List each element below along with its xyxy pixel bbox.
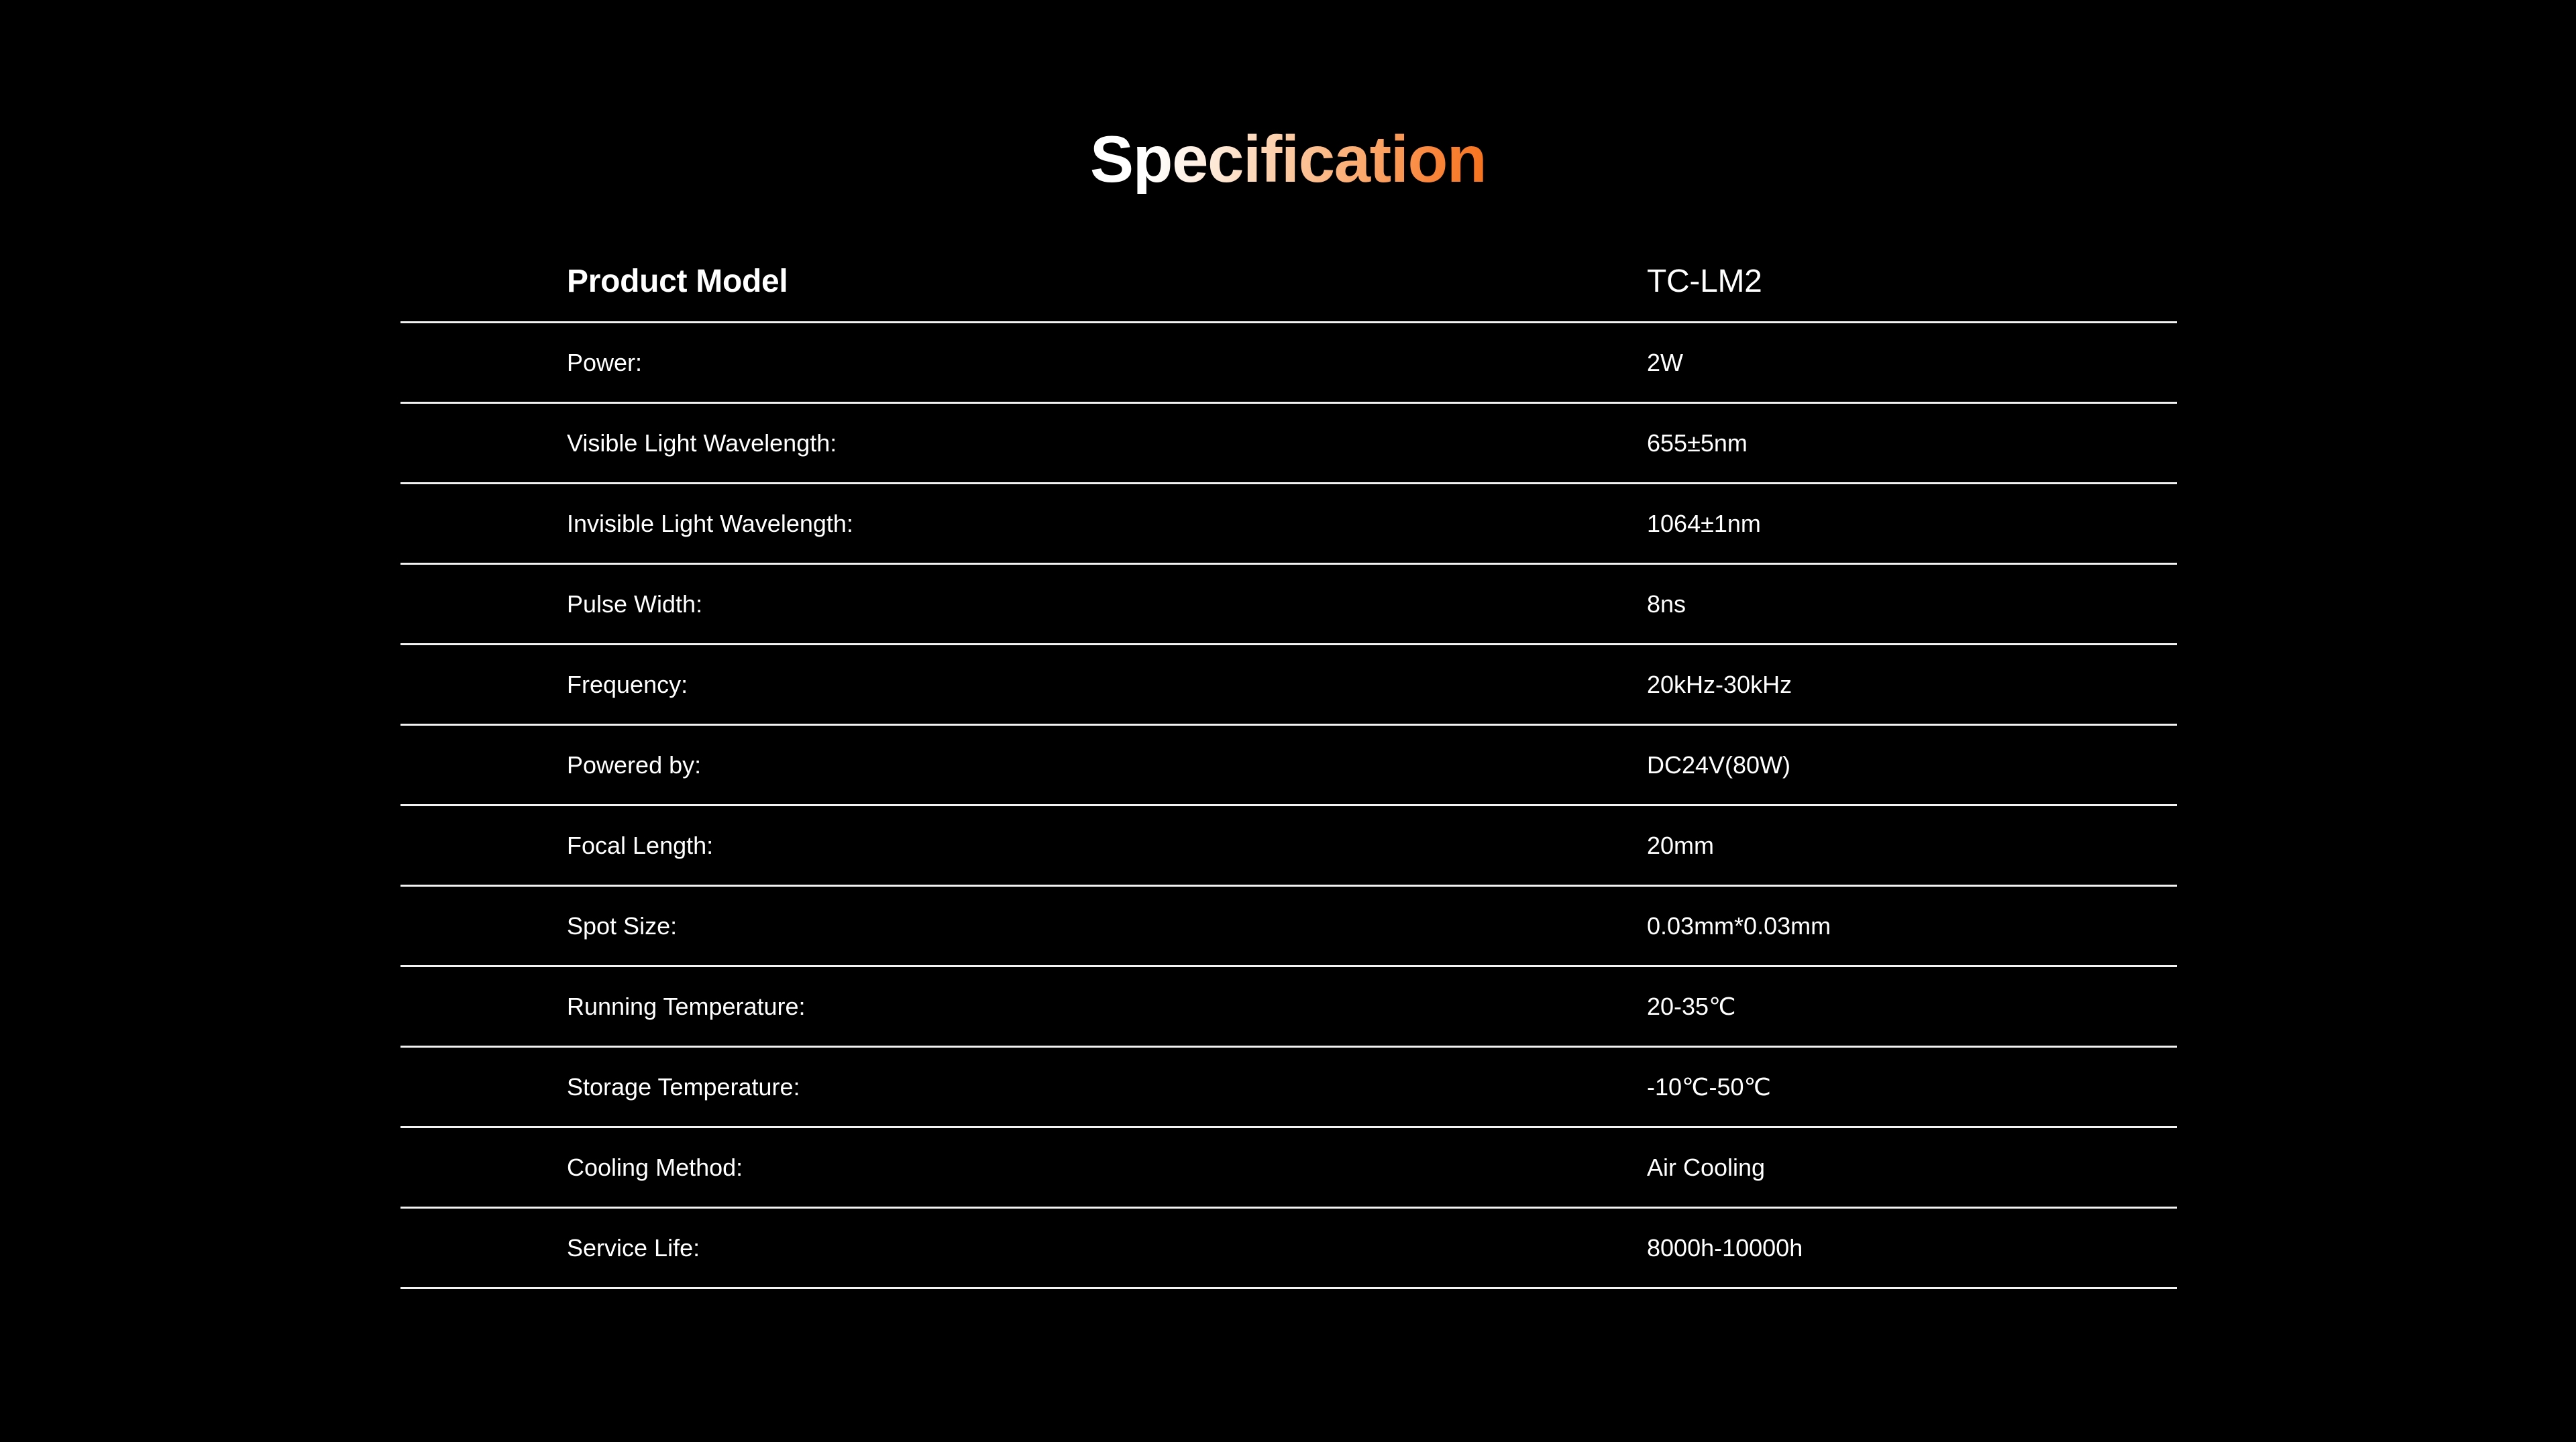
table-header-row: Product Model TC-LM2 — [400, 241, 2177, 323]
table-row: Frequency:20kHz-30kHz — [400, 645, 2177, 726]
spec-label: Storage Temperature: — [400, 1072, 1477, 1101]
spec-label: Pulse Width: — [400, 590, 1477, 618]
table-row: Powered by:DC24V(80W) — [400, 726, 2177, 806]
spec-value: 0.03mm*0.03mm — [1477, 911, 2177, 940]
spec-label: Frequency: — [400, 670, 1477, 699]
table-row: Pulse Width:8ns — [400, 565, 2177, 645]
spec-value: 8000h-10000h — [1477, 1233, 2177, 1262]
spec-label: Spot Size: — [400, 911, 1477, 940]
spec-label: Focal Length: — [400, 831, 1477, 860]
table-row: Running Temperature:20-35℃ — [400, 967, 2177, 1048]
table-row: Cooling Method:Air Cooling — [400, 1128, 2177, 1209]
spec-value: 1064±1nm — [1477, 509, 2177, 538]
spec-label: Cooling Method: — [400, 1153, 1477, 1182]
spec-value: Air Cooling — [1477, 1153, 2177, 1182]
table-row: Storage Temperature:-10℃-50℃ — [400, 1048, 2177, 1128]
page-title-container: Specification — [0, 125, 2576, 194]
column-header-model-value: TC-LM2 — [1477, 262, 2177, 301]
table-row: Visible Light Wavelength:655±5nm — [400, 404, 2177, 484]
spec-label: Power: — [400, 348, 1477, 377]
table-row: Service Life:8000h-10000h — [400, 1209, 2177, 1289]
spec-label: Service Life: — [400, 1233, 1477, 1262]
spec-value: 655±5nm — [1477, 429, 2177, 457]
specification-table: Product Model TC-LM2 Power:2WVisible Lig… — [400, 241, 2177, 1289]
spec-value: -10℃-50℃ — [1477, 1072, 2177, 1101]
table-row: Focal Length:20mm — [400, 806, 2177, 887]
table-row: Power:2W — [400, 323, 2177, 404]
spec-value: 20mm — [1477, 831, 2177, 860]
spec-label: Powered by: — [400, 751, 1477, 779]
table-body: Power:2WVisible Light Wavelength:655±5nm… — [400, 323, 2177, 1289]
spec-label: Running Temperature: — [400, 992, 1477, 1021]
column-header-product-model: Product Model — [400, 262, 1477, 301]
table-row: Invisible Light Wavelength:1064±1nm — [400, 484, 2177, 565]
spec-value: DC24V(80W) — [1477, 751, 2177, 779]
spec-label: Invisible Light Wavelength: — [400, 509, 1477, 538]
table-row: Spot Size:0.03mm*0.03mm — [400, 887, 2177, 967]
spec-label: Visible Light Wavelength: — [400, 429, 1477, 457]
spec-value: 20-35℃ — [1477, 992, 2177, 1021]
specification-page: Specification Product Model TC-LM2 Power… — [0, 0, 2576, 1442]
page-title: Specification — [1090, 125, 1486, 194]
spec-value: 20kHz-30kHz — [1477, 670, 2177, 699]
spec-value: 2W — [1477, 348, 2177, 377]
spec-value: 8ns — [1477, 590, 2177, 618]
